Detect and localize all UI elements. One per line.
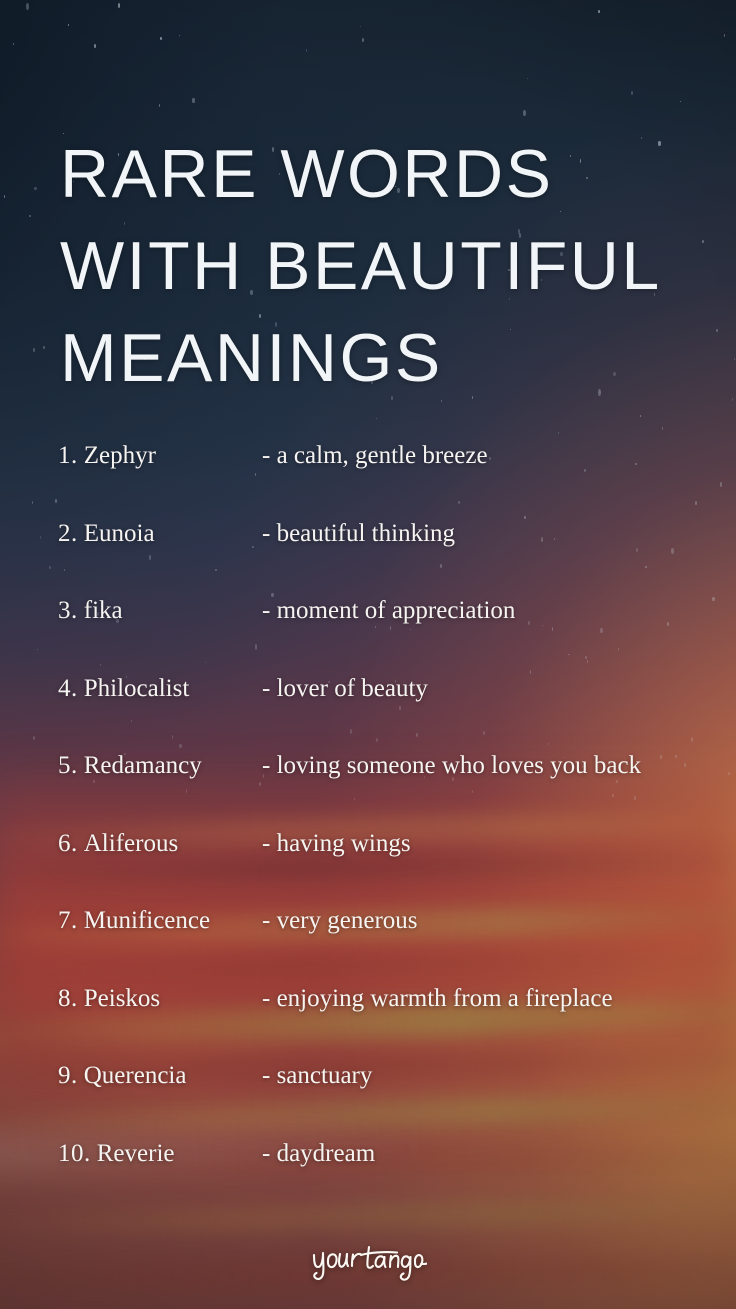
word-definition: - beautiful thinking bbox=[262, 519, 455, 549]
word-list-item: 8.Peiskos- enjoying warmth from a firepl… bbox=[0, 984, 736, 1062]
title-line-1: RARE WORDS bbox=[60, 128, 700, 220]
word-label: fika bbox=[84, 597, 123, 624]
word-number: 8. bbox=[58, 985, 78, 1012]
word-list-item: 2.Eunoia- beautiful thinking bbox=[0, 519, 736, 597]
word-term: 6.Aliferous bbox=[58, 829, 178, 859]
word-label: Aliferous bbox=[84, 830, 178, 857]
word-label: Munificence bbox=[84, 907, 210, 934]
word-term: 7.Munificence bbox=[58, 906, 210, 936]
word-list-item: 3.fika- moment of appreciation bbox=[0, 596, 736, 674]
title-line-2: WITH BEAUTIFUL bbox=[60, 220, 700, 312]
definition-text: enjoying warmth from a fireplace bbox=[270, 985, 612, 1012]
word-list-item: 4.Philocalist- lover of beauty bbox=[0, 674, 736, 752]
definition-text: loving someone who loves you back bbox=[270, 752, 641, 779]
word-number: 5. bbox=[58, 752, 78, 779]
word-list-item: 5.Redamancy- loving someone who loves yo… bbox=[0, 751, 736, 829]
word-definition: - daydream bbox=[262, 1139, 375, 1169]
word-definition: - a calm, gentle breeze bbox=[262, 441, 488, 471]
word-list-item: 6.Aliferous- having wings bbox=[0, 829, 736, 907]
word-label: Querencia bbox=[84, 1062, 187, 1089]
word-label: Eunoia bbox=[84, 520, 155, 547]
word-definition: - lover of beauty bbox=[262, 674, 428, 704]
definition-text: sanctuary bbox=[270, 1062, 372, 1089]
word-number: 3. bbox=[58, 597, 78, 624]
word-list: 1.Zephyr- a calm, gentle breeze2.Eunoia-… bbox=[0, 441, 736, 1216]
page-title: RARE WORDS WITH BEAUTIFUL MEANINGS bbox=[60, 128, 700, 404]
word-term: 2.Eunoia bbox=[58, 519, 155, 549]
definition-text: lover of beauty bbox=[270, 675, 428, 702]
word-label: Redamancy bbox=[84, 752, 202, 779]
yourtango-logo[interactable]: yourtango bbox=[0, 1238, 736, 1284]
word-number: 4. bbox=[58, 675, 78, 702]
word-definition: - moment of appreciation bbox=[262, 596, 515, 626]
word-number: 7. bbox=[58, 907, 78, 934]
word-number: 6. bbox=[58, 830, 78, 857]
poster: RARE WORDS WITH BEAUTIFUL MEANINGS 1.Zep… bbox=[0, 0, 736, 1309]
word-number: 1. bbox=[58, 442, 78, 469]
word-label: Peiskos bbox=[84, 985, 160, 1012]
poster-content: RARE WORDS WITH BEAUTIFUL MEANINGS 1.Zep… bbox=[0, 0, 736, 1309]
word-term: 3.fika bbox=[58, 596, 123, 626]
word-definition: - very generous bbox=[262, 906, 418, 936]
word-term: 5.Redamancy bbox=[58, 751, 202, 781]
word-term: 8.Peiskos bbox=[58, 984, 160, 1014]
title-line-3: MEANINGS bbox=[60, 312, 700, 404]
word-definition: - loving someone who loves you back bbox=[262, 751, 641, 781]
definition-text: beautiful thinking bbox=[270, 520, 455, 547]
word-label: Philocalist bbox=[84, 675, 190, 702]
word-list-item: 7.Munificence- very generous bbox=[0, 906, 736, 984]
word-number: 10. bbox=[58, 1140, 91, 1167]
definition-text: having wings bbox=[270, 830, 410, 857]
definition-text: a calm, gentle breeze bbox=[270, 442, 487, 469]
word-list-item: 9.Querencia- sanctuary bbox=[0, 1061, 736, 1139]
definition-text: daydream bbox=[270, 1140, 375, 1167]
word-definition: - sanctuary bbox=[262, 1061, 372, 1091]
word-term: 10.Reverie bbox=[58, 1139, 174, 1169]
word-list-item: 10.Reverie- daydream bbox=[0, 1139, 736, 1217]
definition-text: moment of appreciation bbox=[270, 597, 515, 624]
word-list-item: 1.Zephyr- a calm, gentle breeze bbox=[0, 441, 736, 519]
definition-text: very generous bbox=[270, 907, 417, 934]
word-definition: - enjoying warmth from a fireplace bbox=[262, 984, 613, 1014]
word-label: Zephyr bbox=[84, 442, 156, 469]
word-label: Reverie bbox=[97, 1140, 175, 1167]
word-term: 9.Querencia bbox=[58, 1061, 186, 1091]
word-number: 9. bbox=[58, 1062, 78, 1089]
word-number: 2. bbox=[58, 520, 78, 547]
word-definition: - having wings bbox=[262, 829, 411, 859]
word-term: 1.Zephyr bbox=[58, 441, 156, 471]
word-term: 4.Philocalist bbox=[58, 674, 189, 704]
